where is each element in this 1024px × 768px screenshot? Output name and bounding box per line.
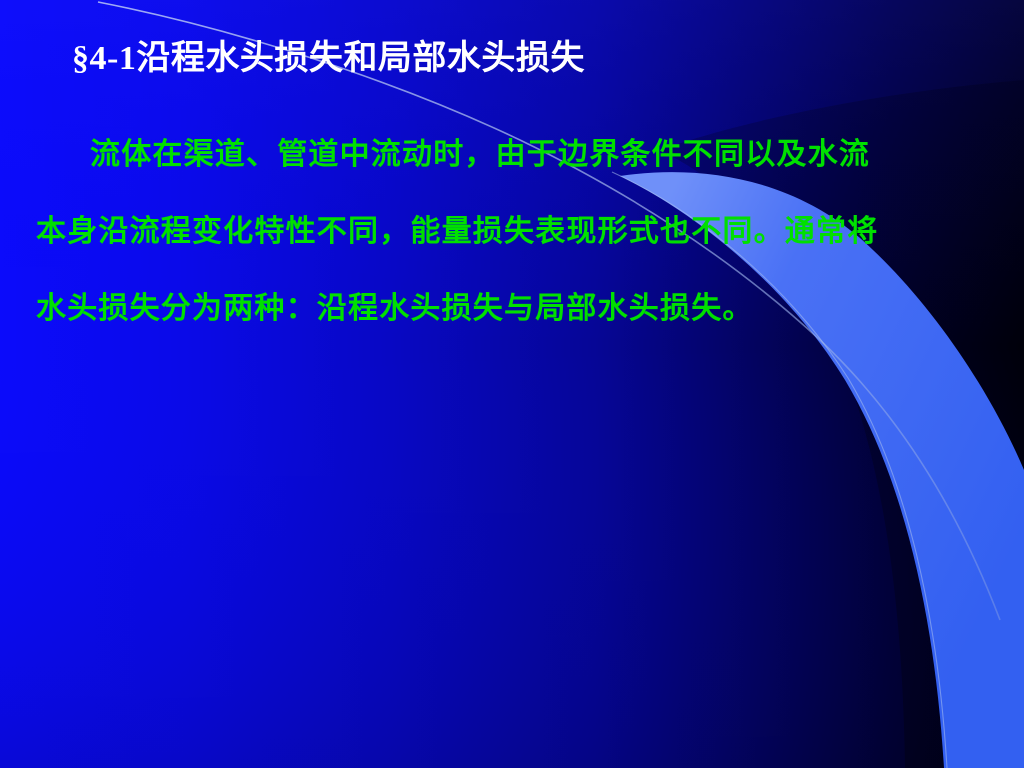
body-line-3: 水头损失分为两种：沿程水头损失与局部水头损失。 [36,294,996,324]
slide-content: §4-1沿程水头损失和局部水头损失 流体在渠道、管道中流动时，由于边界条件不同以… [0,0,1024,768]
body-paragraph: 流体在渠道、管道中流动时，由于边界条件不同以及水流 本身沿流程变化特性不同，能量… [36,140,996,324]
body-line-1: 流体在渠道、管道中流动时，由于边界条件不同以及水流 [36,140,996,170]
presentation-slide: §4-1沿程水头损失和局部水头损失 流体在渠道、管道中流动时，由于边界条件不同以… [0,0,1024,768]
page-title: §4-1沿程水头损失和局部水头损失 [72,39,585,78]
body-line-2: 本身沿流程变化特性不同，能量损失表现形式也不同。通常将 [36,217,996,247]
